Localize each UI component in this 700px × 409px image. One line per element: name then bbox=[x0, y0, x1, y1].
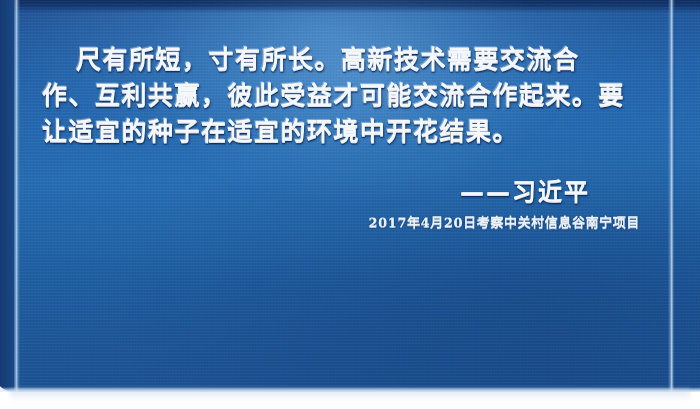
quote-line-1: 尺有所短，寸有所长。高新技术需要交流合 bbox=[42, 42, 646, 78]
attribution-dateline: 2017年4月20日考察中关村信息谷南宁项目 bbox=[42, 212, 646, 231]
quote-line-2: 作、互利共赢，彼此受益才可能交流合作起来。要 bbox=[42, 78, 646, 114]
quote-block: 尺有所短，寸有所长。高新技术需要交流合 作、互利共赢，彼此受益才可能交流合作起来… bbox=[42, 42, 646, 231]
quote-line-3: 让适宜的种子在适宜的环境中开花结果。 bbox=[42, 114, 646, 150]
panel-left-edge-face bbox=[0, 0, 14, 392]
plaque-photo: 尺有所短，寸有所长。高新技术需要交流合 作、互利共赢，彼此受益才可能交流合作起来… bbox=[0, 0, 700, 409]
attribution-signature: ——习近平 bbox=[42, 172, 646, 207]
blue-plaque-panel: 尺有所短，寸有所长。高新技术需要交流合 作、互利共赢，彼此受益才可能交流合作起来… bbox=[0, 0, 700, 392]
panel-bottom-edge bbox=[0, 387, 700, 392]
panel-top-shading bbox=[0, 0, 700, 13]
panel-seam-right bbox=[668, 0, 675, 392]
panel-seam-left bbox=[13, 0, 20, 392]
